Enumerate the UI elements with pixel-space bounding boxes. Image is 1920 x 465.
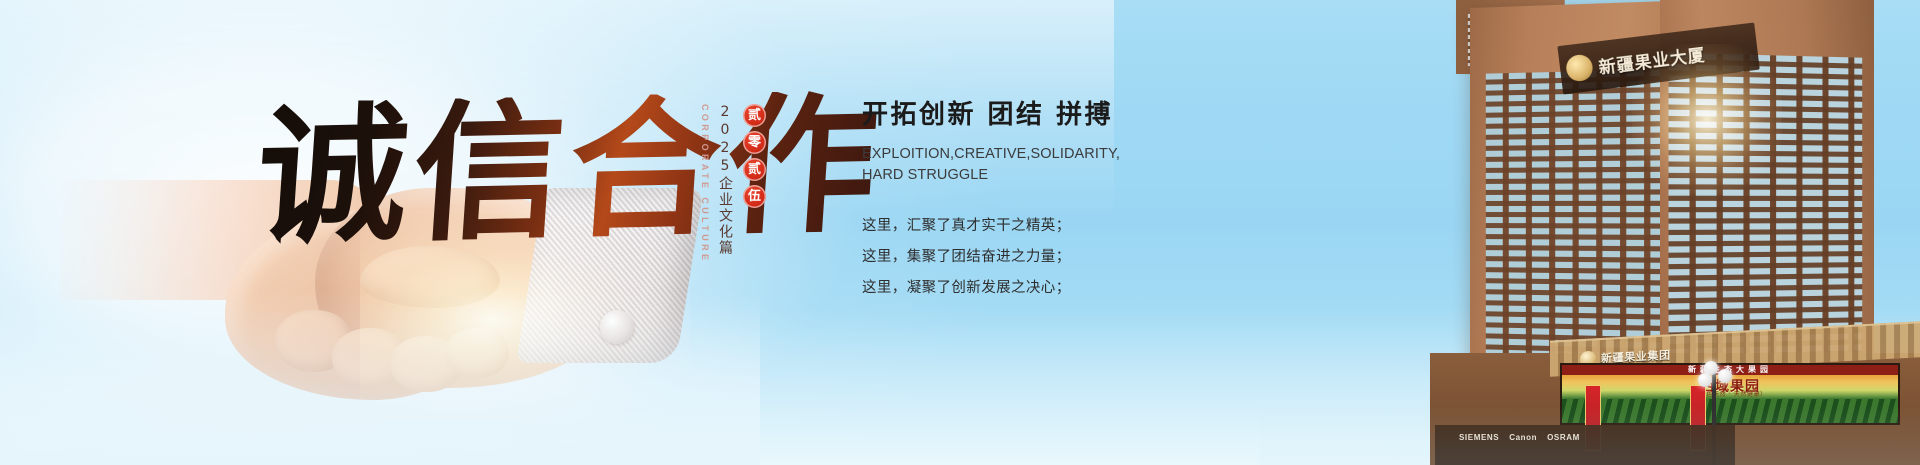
billboard-field-image bbox=[1562, 399, 1898, 423]
slogan-body-line-1: 这里，汇聚了真才实干之精英； bbox=[862, 211, 1192, 242]
slogan-body-line-2: 这里，集聚了团结奋进之力量； bbox=[862, 242, 1192, 273]
knuckle-4 bbox=[445, 328, 509, 378]
storefront-sign-canon: Canon bbox=[1509, 433, 1537, 442]
storefront-sign-row: SIEMENS Canon OSRAM bbox=[1435, 425, 1735, 465]
lamp-globe-2 bbox=[1718, 369, 1732, 383]
storefront-sign-osram: OSRAM bbox=[1547, 433, 1580, 442]
vertical-caption-block: 贰 零 贰 伍 2025企业文化篇 CORPORATE CULTURE bbox=[700, 104, 766, 314]
seal-stamp-2: 零 bbox=[743, 131, 766, 154]
cuff-button bbox=[600, 310, 634, 344]
corporate-culture-banner: 诚信合作 贰 零 贰 伍 2025企业文化篇 CORPORATE CULTURE… bbox=[0, 0, 1920, 465]
calligraphy-title: 诚信合作 bbox=[253, 89, 888, 252]
headquarters-building-photo: 新疆果业大厦 新疆果业集团 新疆生态大果园 西域果园 （绿色天然 · 天然健康）… bbox=[1260, 0, 1920, 465]
year-seal-column: 贰 零 贰 伍 bbox=[743, 104, 766, 208]
slogan-headline: 开拓创新 团结 拼搏 bbox=[862, 100, 1192, 131]
vertical-chinese-caption: 2025企业文化篇 bbox=[715, 104, 735, 304]
slogan-body-lines: 这里，汇聚了真才实干之精英； 这里，集聚了团结奋进之力量； 这里，凝聚了创新发展… bbox=[862, 211, 1192, 303]
lamp-globe-3 bbox=[1698, 373, 1712, 387]
tower-sign-text: 新疆果业大厦 bbox=[1597, 40, 1706, 78]
seal-stamp-1: 贰 bbox=[743, 104, 766, 127]
storefront-sign-siemens: SIEMENS bbox=[1459, 433, 1499, 442]
seal-stamp-3: 贰 bbox=[743, 158, 766, 181]
slogan-body-line-3: 这里，凝聚了创新发展之决心； bbox=[862, 273, 1192, 304]
slogan-english-subhead: EXPLOITION,CREATIVE,SOLIDARITY, HARD STR… bbox=[862, 144, 1072, 185]
slogan-text-block: 开拓创新 团结 拼搏 EXPLOITION,CREATIVE,SOLIDARIT… bbox=[862, 100, 1192, 304]
seal-stamp-4: 伍 bbox=[743, 185, 766, 208]
company-logo-icon bbox=[1565, 53, 1594, 82]
vertical-english-caption: CORPORATE CULTURE bbox=[700, 104, 710, 294]
street-tree bbox=[1730, 409, 1774, 463]
billboard-sub-text: （绿色天然 · 天然健康） bbox=[1562, 389, 1898, 398]
